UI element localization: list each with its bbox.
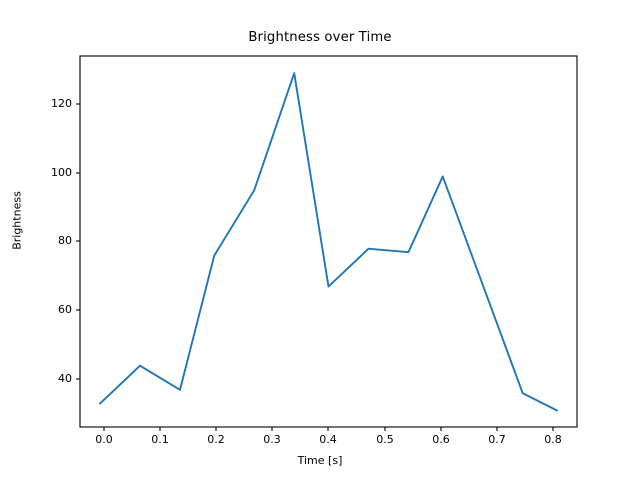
matplotlib-figure: Brightness over Time Brightness Time [s] bbox=[0, 0, 640, 480]
x-tick-label: 0.7 bbox=[488, 433, 506, 446]
y-tick-label: 100 bbox=[51, 166, 72, 179]
x-tick-label: 0.2 bbox=[207, 433, 225, 446]
y-tick-label: 120 bbox=[51, 97, 72, 110]
data-series-brightness bbox=[100, 73, 557, 410]
x-tick-marks bbox=[104, 427, 553, 431]
x-tick-label: 0.6 bbox=[432, 433, 450, 446]
y-tick-label: 60 bbox=[58, 303, 72, 316]
x-tick-label: 0.3 bbox=[263, 433, 281, 446]
x-tick-labels: 0.0 0.1 0.2 0.3 0.4 0.5 0.6 0.7 0.8 bbox=[95, 433, 562, 446]
x-tick-label: 0.5 bbox=[376, 433, 394, 446]
y-tick-marks bbox=[76, 104, 80, 379]
x-tick-label: 0.4 bbox=[319, 433, 337, 446]
x-tick-label: 0.0 bbox=[95, 433, 113, 446]
x-tick-label: 0.8 bbox=[544, 433, 562, 446]
y-tick-label: 40 bbox=[58, 372, 72, 385]
plot-canvas: 0.0 0.1 0.2 0.3 0.4 0.5 0.6 0.7 0.8 40 6… bbox=[0, 0, 640, 480]
y-tick-labels: 40 60 80 100 120 bbox=[51, 97, 72, 385]
x-tick-label: 0.1 bbox=[151, 433, 169, 446]
y-tick-label: 80 bbox=[58, 234, 72, 247]
axes-frame bbox=[80, 56, 577, 427]
